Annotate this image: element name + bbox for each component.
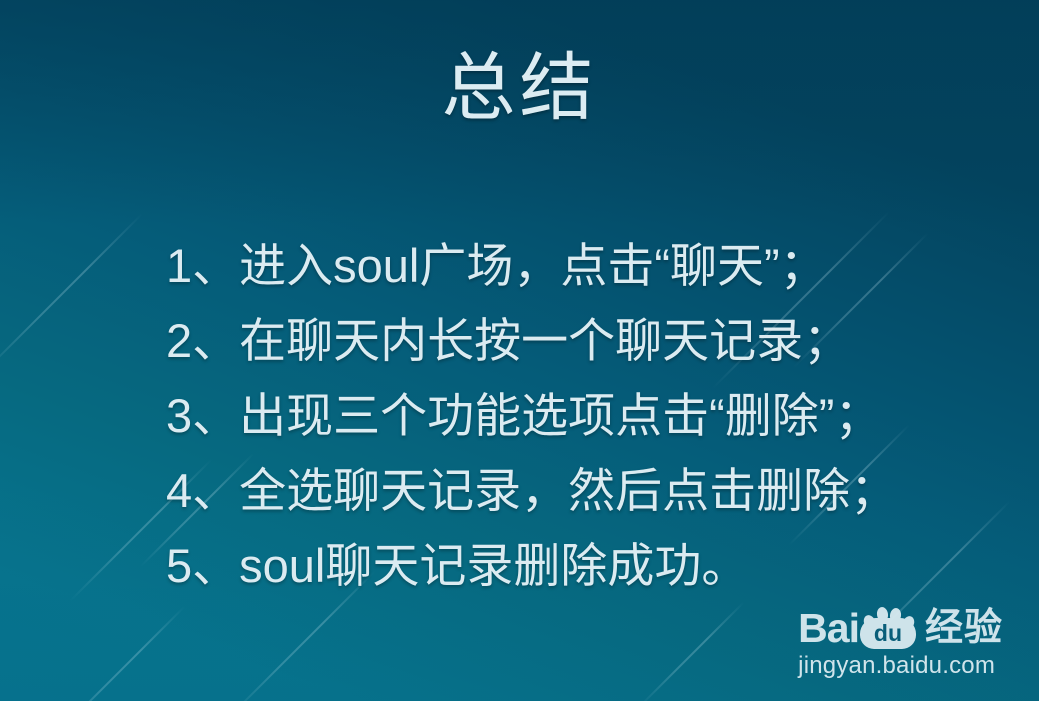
- baidu-wordmark-du: du: [860, 618, 916, 649]
- steps-list: 1、进入soul广场，点击“聊天”； 2、在聊天内长按一个聊天记录； 3、出现三…: [166, 228, 1006, 603]
- baidu-paw-icon: du: [860, 603, 918, 649]
- step-line: 1、进入soul广场，点击“聊天”；: [166, 228, 1006, 303]
- streak-line: [637, 601, 744, 701]
- baidu-jingyan-watermark: Bai du 经验 jingyan.baidu.com: [798, 601, 1003, 679]
- slide-title: 总结: [0, 50, 1039, 125]
- baidu-wordmark-bai: Bai: [798, 608, 859, 649]
- step-line: 5、soul聊天记录删除成功。: [166, 528, 1006, 603]
- jingyan-label: 经验: [925, 608, 1003, 649]
- watermark-url: jingyan.baidu.com: [798, 652, 1003, 679]
- slide-canvas: 总结 1、进入soul广场，点击“聊天”； 2、在聊天内长按一个聊天记录； 3、…: [0, 0, 1039, 701]
- step-line: 2、在聊天内长按一个聊天记录；: [166, 303, 1006, 378]
- step-line: 4、全选聊天记录，然后点击删除；: [166, 453, 1006, 528]
- streak-line: [0, 213, 143, 377]
- watermark-logo-row: Bai du 经验: [798, 601, 1003, 649]
- step-line: 3、出现三个功能选项点击“删除”；: [166, 378, 1006, 453]
- streak-line: [57, 606, 185, 701]
